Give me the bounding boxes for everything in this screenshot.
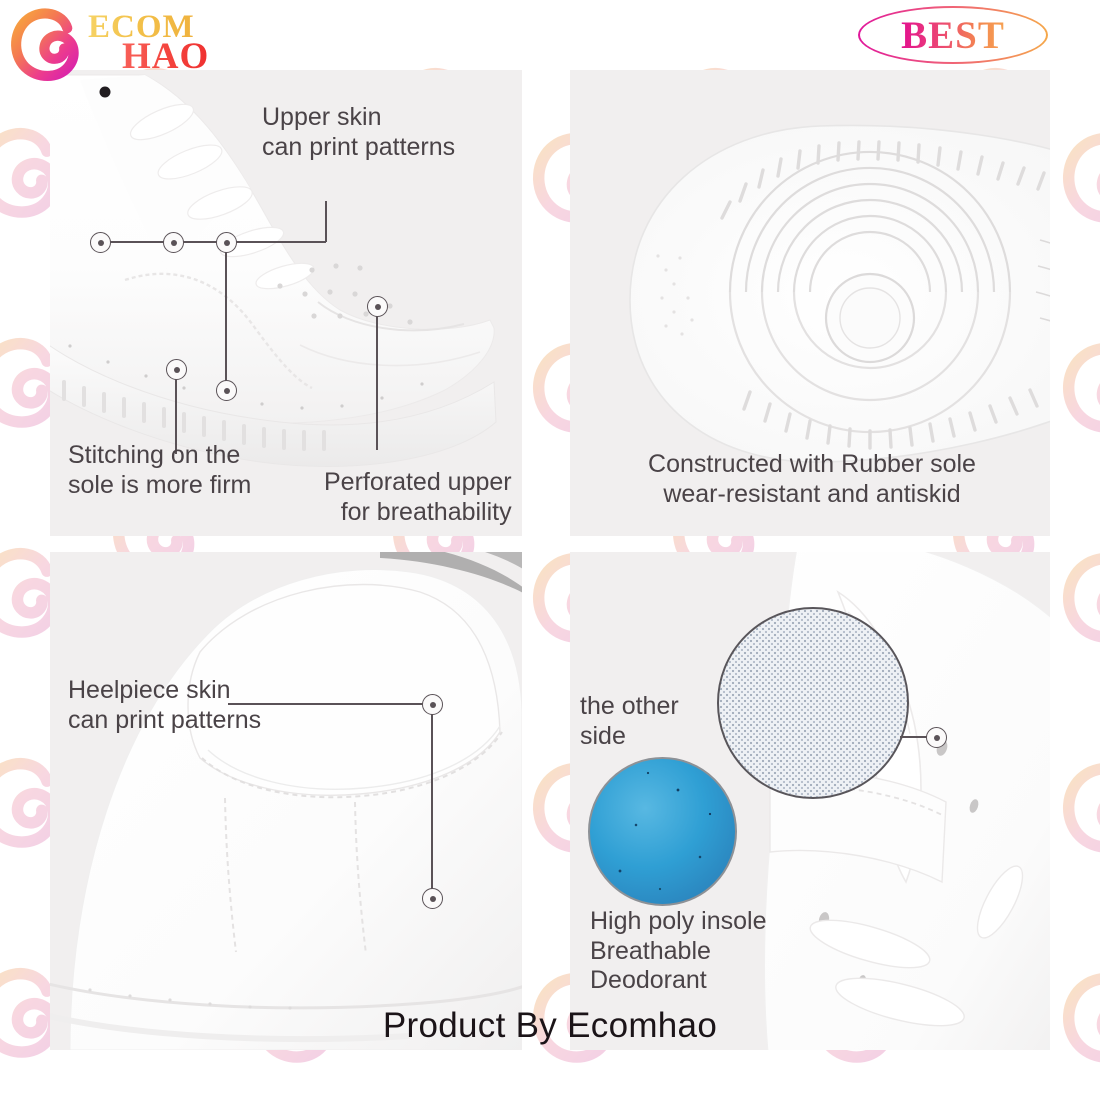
ecomhao-swirl-logo-icon	[8, 4, 86, 82]
callout-line-upper-horizontal	[99, 241, 326, 243]
feature-panel-grid: Upper skin can print patterns Stitching …	[0, 0, 1100, 1100]
panel-sole: Constructed with Rubber sole wear-resist…	[570, 70, 1050, 536]
callout-marker-stitching	[166, 359, 187, 380]
panel-insole: the other side High poly insole Breathab…	[570, 552, 1050, 1050]
panel-upper: Upper skin can print patterns Stitching …	[50, 70, 522, 536]
best-badge-ellipse: BEST	[858, 6, 1048, 64]
callout-marker-upper-1	[90, 232, 111, 253]
footer-brand-text: Product By Ecomhao	[383, 1006, 717, 1046]
callout-text-heelpiece: Heelpiece skin can print patterns	[68, 676, 261, 735]
brand-logo-line2: HAO	[122, 40, 209, 74]
callout-text-perforated: Perforated upper for breathability	[324, 468, 512, 527]
callout-text-other-side: the other side	[580, 692, 679, 751]
callout-line-upper-drop	[225, 241, 227, 389]
panel-heel: Heelpiece skin can print patterns	[50, 552, 522, 1050]
callout-line-heelpiece-drop	[431, 703, 433, 897]
callout-marker-upper-2	[163, 232, 184, 253]
best-badge-inner: BEST	[860, 8, 1046, 62]
insole-blue-swatch	[588, 757, 737, 906]
insole-mesh-swatch	[717, 607, 909, 799]
callout-marker-upper-3	[216, 232, 237, 253]
page-footer: Product By Ecomhao	[0, 1000, 1100, 1052]
callout-text-upper-skin: Upper skin can print patterns	[262, 103, 455, 162]
callout-line-perforated	[376, 314, 378, 450]
callout-text-rubber-sole: Constructed with Rubber sole wear-resist…	[642, 450, 982, 509]
page-header: ECOM HAO BEST	[0, 0, 1100, 86]
callout-marker-upper-4	[216, 380, 237, 401]
brand-logo-text: ECOM HAO	[88, 12, 209, 74]
callout-text-stitching: Stitching on the sole is more firm	[68, 441, 251, 500]
callout-line-upper-elbow	[325, 201, 327, 242]
callout-marker-perforated	[367, 296, 388, 317]
callout-marker-heelpiece-2	[422, 888, 443, 909]
callout-marker-heelpiece-1	[422, 694, 443, 715]
sneaker-heel-closeup-image	[50, 552, 522, 1050]
best-badge: BEST	[858, 6, 1048, 64]
mesh-texture	[719, 609, 907, 797]
blue-speckle-texture	[590, 759, 735, 904]
callout-text-high-poly: High poly insole Breathable Deodorant	[590, 907, 767, 996]
brand-logo[interactable]: ECOM HAO	[8, 4, 209, 82]
best-badge-label: BEST	[901, 13, 1005, 58]
callout-marker-insole	[926, 727, 947, 748]
